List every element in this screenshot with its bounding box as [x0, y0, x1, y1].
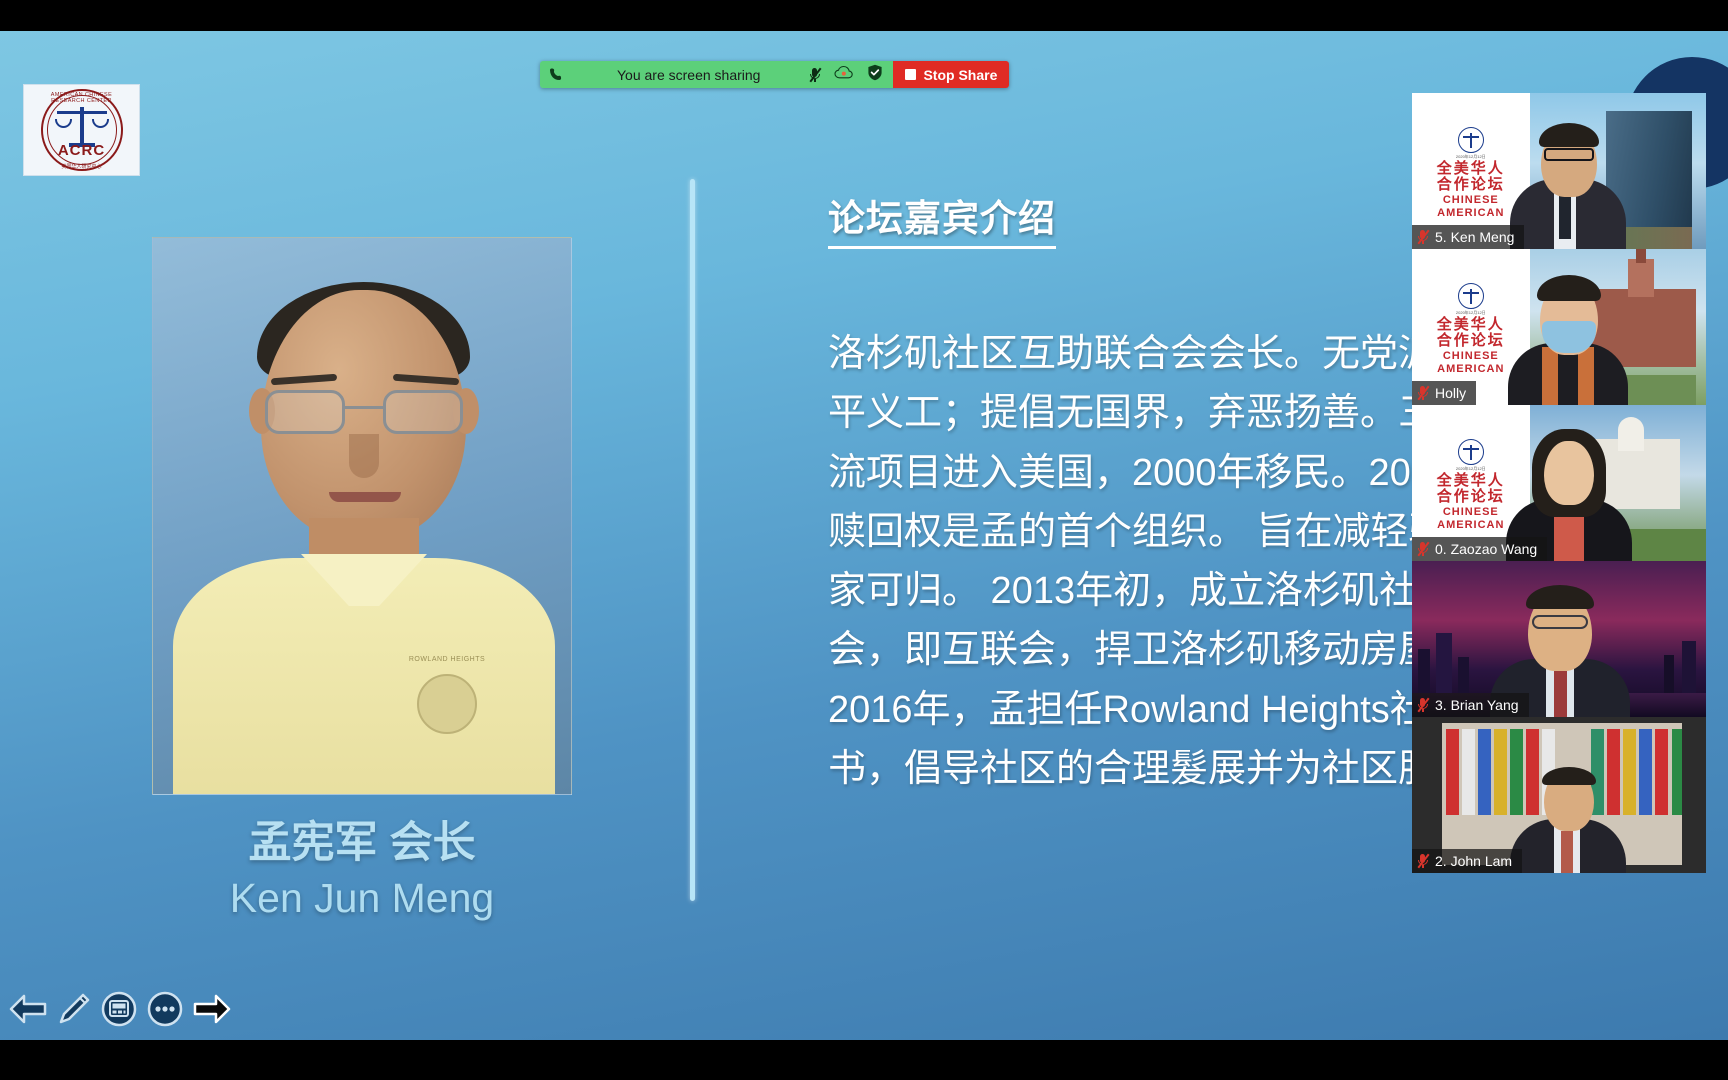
share-bar-icons: [808, 64, 883, 86]
stop-share-label: Stop Share: [923, 67, 997, 83]
slide-view-button[interactable]: [100, 990, 138, 1028]
zoom-screen-share-window: AMERICAN CHINESE RESEARCH CENTER ACRC 美国…: [0, 0, 1728, 1080]
banner-en-line2: AMERICAN: [1437, 207, 1504, 219]
banner-seal-icon: [1458, 127, 1484, 153]
banner-en-line1: CHINESE: [1443, 194, 1499, 206]
body-line: 书，倡导社区的合理髮展并为社区服: [828, 740, 1448, 799]
slide-body-text: 洛杉矶社区互助联合会会长。无党派 平义工；提倡无国界，弃恶扬善。三 流项目进入美…: [828, 325, 1448, 799]
mic-muted-icon: [1416, 229, 1429, 245]
participant-name: 0. Zaozao Wang: [1435, 541, 1537, 557]
banner-cn-line2: 合作论坛: [1437, 177, 1505, 193]
banner-en-line1: CHINESE: [1443, 506, 1499, 518]
body-line: 家可归。 2013年初，成立洛杉矶社区: [828, 562, 1448, 621]
pen-tool-button[interactable]: [56, 991, 92, 1027]
participant-tile[interactable]: 2020年12月12日 全美华人 合作论坛 CHINESE AMERICAN 0…: [1412, 405, 1706, 561]
participant-name-badge: 0. Zaozao Wang: [1412, 537, 1547, 561]
mic-muted-icon: [1416, 541, 1429, 557]
banner-date: 2020年12月12日: [1456, 310, 1486, 316]
banner-en-line1: CHINESE: [1443, 350, 1499, 362]
screen-share-toolbar: You are screen sharing: [540, 61, 1009, 88]
body-line: 平义工；提倡无国界，弃恶扬善。三: [828, 384, 1448, 443]
mic-muted-icon: [1416, 853, 1429, 869]
mic-muted-icon: [1416, 385, 1429, 401]
banner-cn-line1: 全美华人: [1437, 161, 1505, 177]
participant-tile[interactable]: 2020年12月12日 全美华人 合作论坛 CHINESE AMERICAN 5…: [1412, 93, 1706, 249]
banner-seal-icon: [1458, 283, 1484, 309]
participant-tile[interactable]: 2020年12月12日 全美华人 合作论坛 CHINESE AMERICAN H…: [1412, 249, 1706, 405]
participant-tile[interactable]: 2. John Lam: [1412, 717, 1706, 873]
participant-name: 2. John Lam: [1435, 853, 1512, 869]
guest-portrait: ROWLAND HEIGHTS: [152, 237, 572, 795]
participant-name-badge: Holly: [1412, 381, 1476, 405]
cloud-recording-icon[interactable]: [834, 65, 854, 85]
guest-portrait-block: ROWLAND HEIGHTS 孟宪军 会长 Ken Jun Meng: [152, 237, 572, 924]
stop-share-button[interactable]: Stop Share: [893, 61, 1009, 88]
guest-name-chinese: 孟宪军 会长: [152, 817, 572, 871]
acrc-chinese-text: 美国华人研究中心: [39, 163, 125, 170]
banner-cn-line1: 全美华人: [1437, 473, 1505, 489]
share-status-text: You are screen sharing: [617, 67, 760, 83]
participant-name-badge: 2. John Lam: [1412, 849, 1522, 873]
participant-avatar: [1508, 119, 1628, 249]
presenter-toolbar: [8, 990, 232, 1028]
banner-date: 2020年12月12日: [1456, 466, 1486, 472]
acrc-acronym: ACRC: [39, 142, 125, 159]
participant-tile[interactable]: 3. Brian Yang: [1412, 561, 1706, 717]
shield-check-icon[interactable]: [867, 64, 883, 86]
banner-seal-icon: [1458, 439, 1484, 465]
banner-cn-line1: 全美华人: [1437, 317, 1505, 333]
share-status-group: You are screen sharing: [540, 61, 893, 88]
previous-slide-button[interactable]: [8, 992, 48, 1026]
mic-muted-icon: [1416, 697, 1429, 713]
stop-square-icon: [905, 69, 916, 80]
shirt-emblem-text: ROWLAND HEIGHTS: [399, 656, 495, 663]
participant-name: Holly: [1435, 385, 1466, 401]
mic-muted-icon[interactable]: [808, 67, 821, 83]
acrc-arc-text: AMERICAN CHINESE RESEARCH CENTER: [39, 92, 125, 104]
participant-name: 3. Brian Yang: [1435, 697, 1519, 713]
banner-cn-line2: 合作论坛: [1437, 333, 1505, 349]
phone-icon: [548, 66, 565, 83]
more-options-button[interactable]: [146, 990, 184, 1028]
participant-name-badge: 5. Ken Meng: [1412, 225, 1524, 249]
next-slide-button[interactable]: [192, 992, 232, 1026]
participant-name: 5. Ken Meng: [1435, 229, 1514, 245]
guest-name-english: Ken Jun Meng: [152, 873, 572, 924]
body-line: 洛杉矶社区互助联合会会长。无党派: [828, 325, 1448, 384]
participant-filmstrip: 2020年12月12日 全美华人 合作论坛 CHINESE AMERICAN 5…: [1412, 93, 1706, 873]
acrc-logo: AMERICAN CHINESE RESEARCH CENTER ACRC 美国…: [23, 84, 140, 176]
slide-title: 论坛嘉宾介绍: [828, 188, 1056, 249]
banner-en-line2: AMERICAN: [1437, 363, 1504, 375]
banner-cn-line2: 合作论坛: [1437, 489, 1505, 505]
body-line: 2016年，孟担任Rowland Heights社: [828, 681, 1448, 740]
scales-of-justice-icon: AMERICAN CHINESE RESEARCH CENTER ACRC 美国…: [39, 87, 125, 173]
participant-avatar: [1510, 767, 1626, 873]
guest-caption: 孟宪军 会长 Ken Jun Meng: [152, 817, 572, 924]
vertical-divider: [690, 179, 695, 901]
participant-avatar: [1508, 263, 1628, 405]
banner-date: 2020年12月12日: [1456, 154, 1486, 160]
body-line: 流项目进入美国，2000年移民。201: [828, 444, 1448, 503]
banner-en-line2: AMERICAN: [1437, 519, 1504, 531]
participant-name-badge: 3. Brian Yang: [1412, 693, 1529, 717]
eyeglasses: [265, 390, 463, 434]
body-line: 赎回权是孟的首个组织。 旨在减轻驱: [828, 503, 1448, 562]
body-line: 会，即互联会，捍卫洛杉矶移动房屋: [828, 621, 1448, 680]
